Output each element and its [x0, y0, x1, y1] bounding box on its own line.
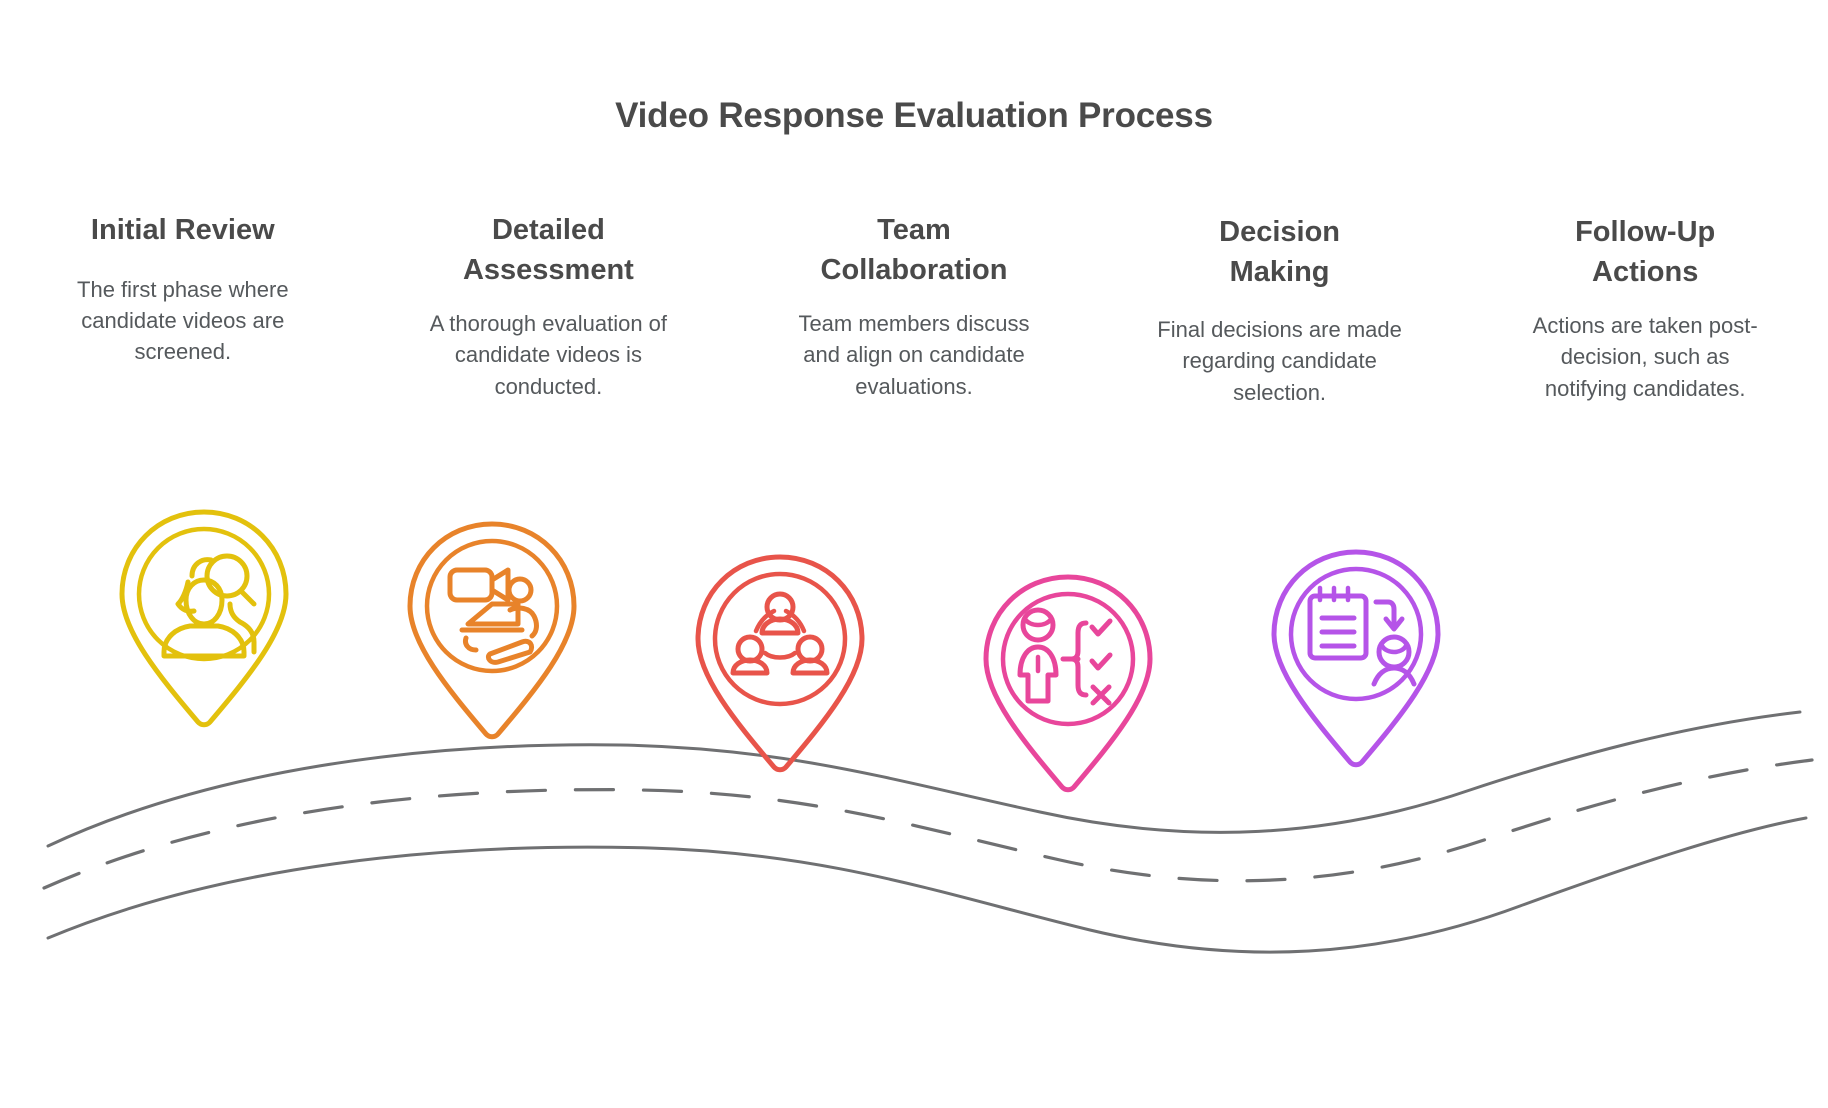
map-pin-team-collaboration[interactable] — [680, 545, 880, 785]
map-pin-follow-up-actions[interactable] — [1256, 540, 1456, 780]
map-pin-decision-making[interactable] — [968, 565, 1168, 805]
notepad-notify-icon — [1256, 540, 1456, 780]
map-pin-initial-review[interactable] — [104, 500, 304, 740]
team-network-icon — [680, 545, 880, 785]
map-pin-detailed-assessment[interactable] — [392, 512, 592, 752]
people-search-icon — [104, 500, 304, 740]
decision-tree-icon — [968, 565, 1168, 805]
steps-pin-row — [0, 0, 1828, 1108]
video-review-icon — [392, 512, 592, 752]
infographic-canvas: Video Response Evaluation Process Initia… — [0, 0, 1828, 1108]
